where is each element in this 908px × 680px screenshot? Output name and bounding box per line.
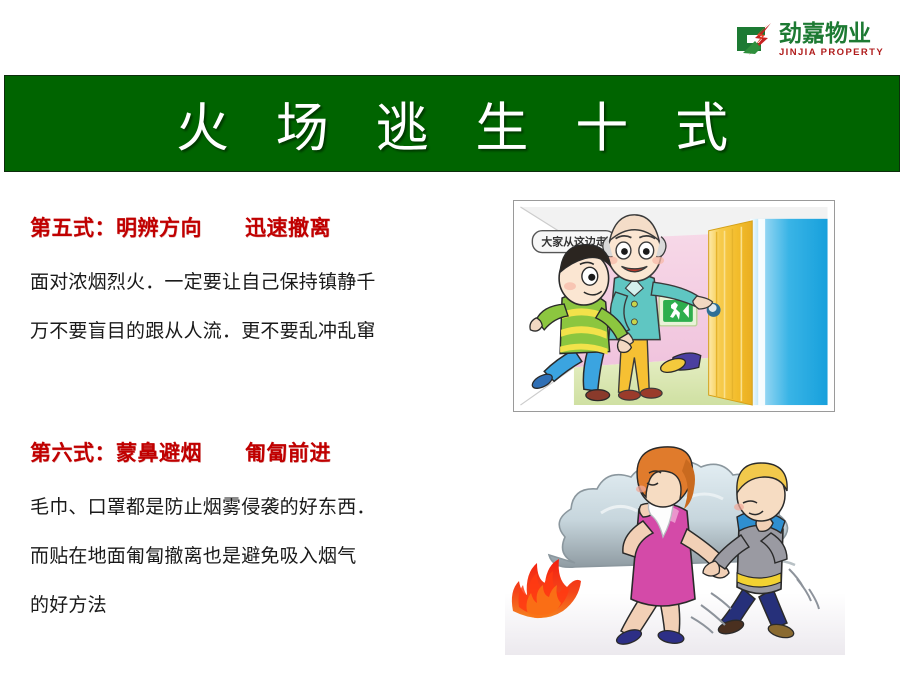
- body-line: 的好方法: [30, 581, 480, 630]
- jinjia-star-mark-icon: [735, 21, 775, 59]
- section-body: 面对浓烟烈火．一定要让自己保持镇静千 万不要盲目的跟从人流．更不要乱冲乱窜: [30, 258, 480, 356]
- company-logo: 劲嘉物业 JINJIA PROPERTY: [735, 16, 890, 64]
- evacuation-illustration: 大家从这边走: [513, 200, 835, 412]
- section-body: 毛巾、口罩都是防止烟雾侵袭的好东西． 而贴在地面匍匐撤离也是避免吸入烟气 的好方…: [30, 483, 480, 630]
- body-line: 而贴在地面匍匐撤离也是避免吸入烟气: [30, 532, 480, 581]
- logo-company-name-en: JINJIA PROPERTY: [779, 48, 884, 58]
- body-line: 万不要盲目的跟从人流．更不要乱冲乱窜: [30, 307, 480, 356]
- body-line: 面对浓烟烈火．一定要让自己保持镇静千: [30, 258, 480, 307]
- page-title: 火 场 逃 生 十 式: [161, 86, 743, 162]
- slide-canvas: 劲嘉物业 JINJIA PROPERTY 火 场 逃 生 十 式 第五式：明辨方…: [0, 0, 908, 680]
- logo-text: 劲嘉物业 JINJIA PROPERTY: [779, 23, 884, 58]
- body-line: 毛巾、口罩都是防止烟雾侵袭的好东西．: [30, 483, 480, 532]
- section-heading: 第五式：明辨方向 迅速撤离: [30, 212, 480, 242]
- section-fifth-tactic: 第五式：明辨方向 迅速撤离 面对浓烟烈火．一定要让自己保持镇静千 万不要盲目的跟…: [30, 212, 480, 356]
- smoke-escape-illustration: [505, 443, 845, 655]
- title-banner: 火 场 逃 生 十 式: [4, 75, 900, 172]
- logo-company-name-cn: 劲嘉物业: [779, 23, 884, 46]
- section-sixth-tactic: 第六式：蒙鼻避烟 匍匐前进 毛巾、口罩都是防止烟雾侵袭的好东西． 而贴在地面匍匐…: [30, 437, 480, 630]
- section-heading: 第六式：蒙鼻避烟 匍匐前进: [30, 437, 480, 467]
